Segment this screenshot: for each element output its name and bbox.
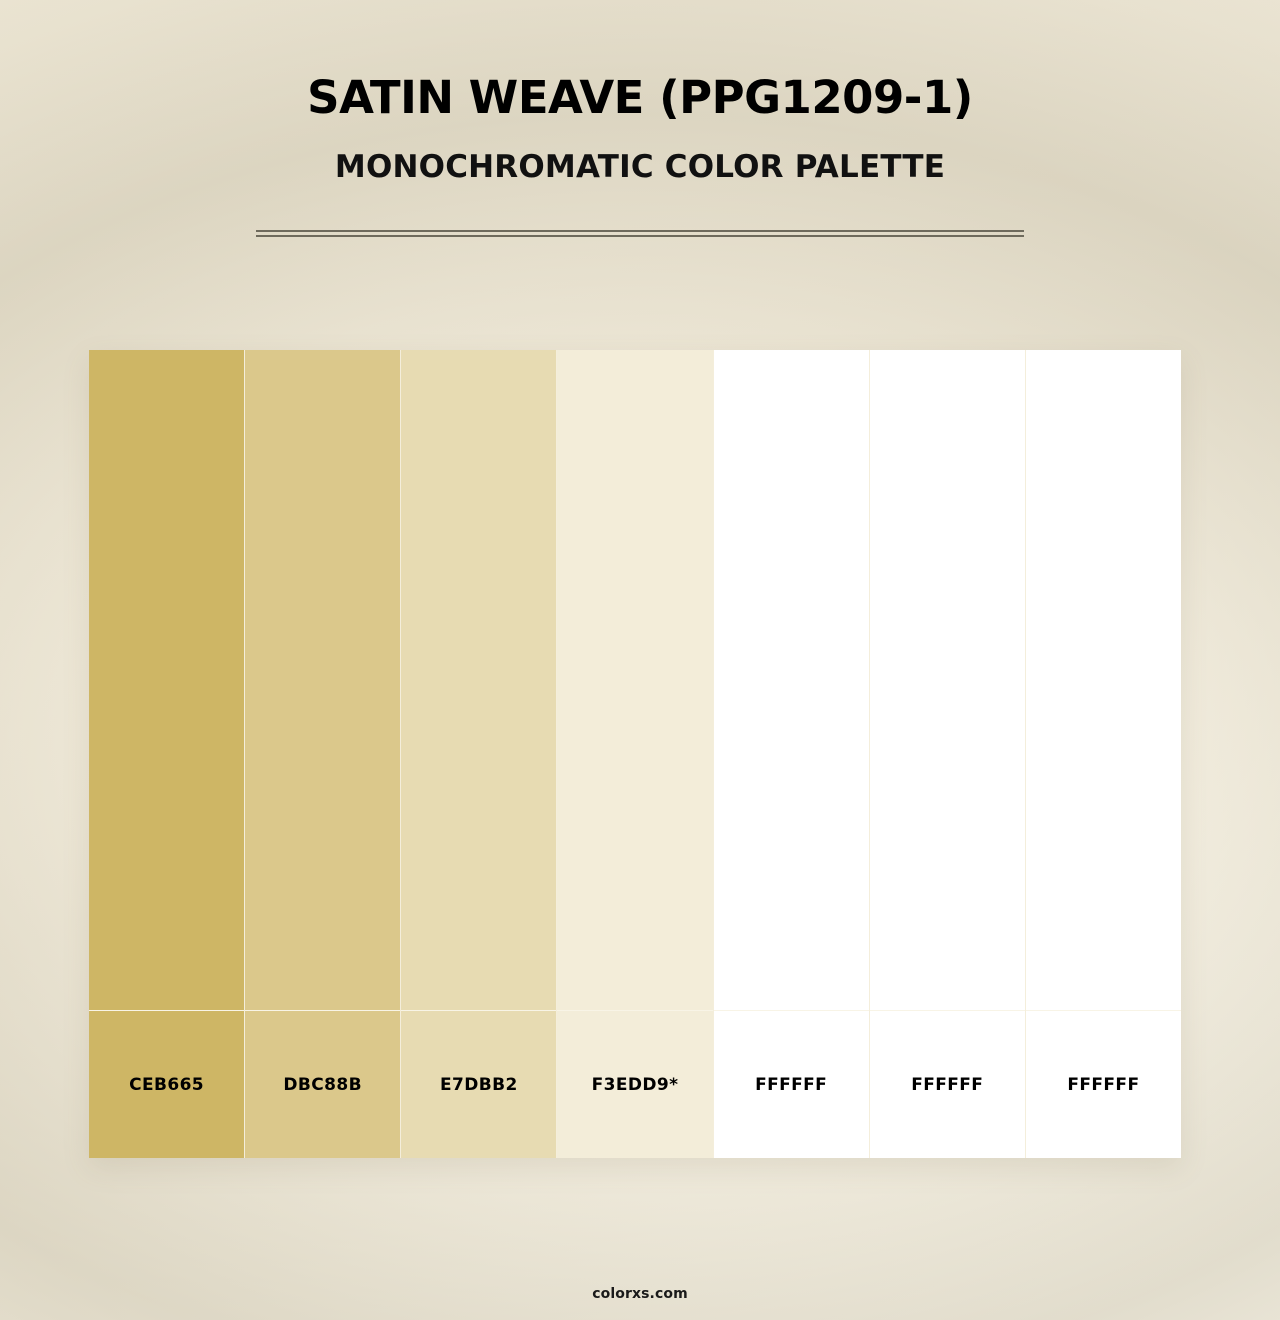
color-swatch[interactable]: DBC88B: [245, 350, 401, 1158]
swatch-hex-label: FFFFFF: [911, 1075, 983, 1095]
swatch-hex-label: E7DBB2: [440, 1075, 518, 1095]
color-swatch[interactable]: FFFFFF: [1026, 350, 1181, 1158]
swatch-label-band: E7DBB2: [401, 1011, 556, 1158]
swatch-color-block[interactable]: [714, 350, 869, 1010]
page-header: SATIN WEAVE (PPG1209-1) MONOCHROMATIC CO…: [0, 0, 1280, 184]
color-palette-page: SATIN WEAVE (PPG1209-1) MONOCHROMATIC CO…: [0, 0, 1280, 1320]
divider-rule-bottom: [256, 235, 1024, 237]
divider-rule-top: [256, 230, 1024, 232]
color-swatch[interactable]: FFFFFF: [870, 350, 1026, 1158]
page-title: SATIN WEAVE (PPG1209-1): [0, 0, 1280, 121]
site-credit: colorxs.com: [592, 1286, 688, 1302]
swatch-label-band: FFFFFF: [714, 1011, 869, 1158]
swatch-color-block[interactable]: [401, 350, 556, 1010]
swatch-color-block[interactable]: [870, 350, 1025, 1010]
swatch-label-band: FFFFFF: [1026, 1011, 1181, 1158]
swatch-hex-label: DBC88B: [283, 1075, 362, 1095]
swatch-color-block[interactable]: [1026, 350, 1181, 1010]
swatch-label-band: FFFFFF: [870, 1011, 1025, 1158]
color-swatch[interactable]: E7DBB2: [401, 350, 557, 1158]
swatch-color-block[interactable]: [89, 350, 244, 1010]
page-footer: colorxs.com: [0, 1283, 1280, 1302]
swatch-label-band: DBC88B: [245, 1011, 400, 1158]
swatch-hex-label: FFFFFF: [755, 1075, 827, 1095]
swatch-label-band: CEB665: [89, 1011, 244, 1158]
swatch-label-band: F3EDD9*: [557, 1011, 712, 1158]
swatch-color-block[interactable]: [245, 350, 400, 1010]
swatch-hex-label: CEB665: [129, 1075, 204, 1095]
swatch-hex-label: F3EDD9*: [592, 1075, 679, 1095]
page-subtitle: MONOCHROMATIC COLOR PALETTE: [0, 121, 1280, 184]
swatch-hex-label: FFFFFF: [1067, 1075, 1139, 1095]
color-swatch[interactable]: F3EDD9*: [557, 350, 713, 1158]
color-swatch[interactable]: FFFFFF: [714, 350, 870, 1158]
color-swatch[interactable]: CEB665: [89, 350, 245, 1158]
palette-strip: CEB665DBC88BE7DBB2F3EDD9*FFFFFFFFFFFFFFF…: [89, 350, 1181, 1158]
header-divider: [256, 230, 1024, 237]
swatch-color-block[interactable]: [557, 350, 712, 1010]
